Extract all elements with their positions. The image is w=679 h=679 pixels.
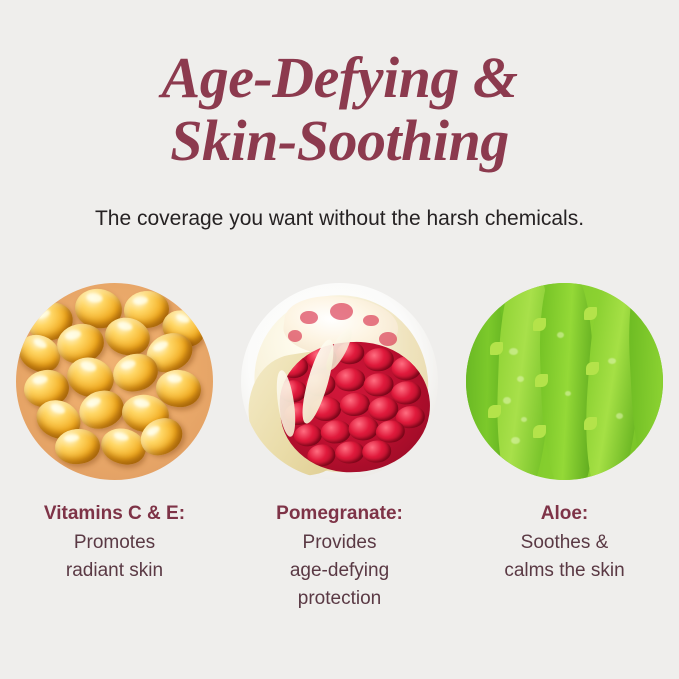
page-title-line-2: Skin-Soothing [0, 109, 679, 172]
ingredient-description-line: radiant skin [7, 557, 222, 585]
page-title: Age-Defying & Skin-Soothing [0, 46, 679, 172]
ingredient-column-pomegranate: Pomegranate: Provides age-defying protec… [241, 283, 438, 613]
ingredient-label: Vitamins C & E: [7, 502, 222, 526]
infographic-page: Age-Defying & Skin-Soothing The coverage… [0, 0, 679, 679]
ingredient-caption-aloe: Aloe: Soothes & calms the skin [457, 502, 672, 585]
ingredient-column-aloe: Aloe: Soothes & calms the skin [466, 283, 663, 613]
aloe-vera-leaves-photo [466, 283, 663, 480]
ingredient-columns: Vitamins C & E: Promotes radiant skin [0, 283, 679, 613]
ingredient-description-line: calms the skin [457, 557, 672, 585]
ingredient-description-line: age-defying [232, 557, 447, 585]
vitamin-gel-capsules-photo [16, 283, 213, 480]
ingredient-label: Pomegranate: [232, 502, 447, 526]
ingredient-caption-pomegranate: Pomegranate: Provides age-defying protec… [232, 502, 447, 613]
ingredient-column-vitamins: Vitamins C & E: Promotes radiant skin [16, 283, 213, 613]
page-title-line-1: Age-Defying & [0, 46, 679, 109]
ingredient-description-line: protection [232, 585, 447, 613]
ingredient-description: Soothes & calms the skin [457, 529, 672, 585]
pomegranate-photo [241, 283, 438, 480]
page-subtitle: The coverage you want without the harsh … [0, 206, 679, 232]
ingredient-description: Promotes radiant skin [7, 529, 222, 585]
ingredient-label: Aloe: [457, 502, 672, 526]
ingredient-description-line: Promotes [7, 529, 222, 557]
ingredient-description-line: Provides [232, 529, 447, 557]
ingredient-description-line: Soothes & [457, 529, 672, 557]
ingredient-caption-vitamins: Vitamins C & E: Promotes radiant skin [7, 502, 222, 585]
ingredient-description: Provides age-defying protection [232, 529, 447, 613]
